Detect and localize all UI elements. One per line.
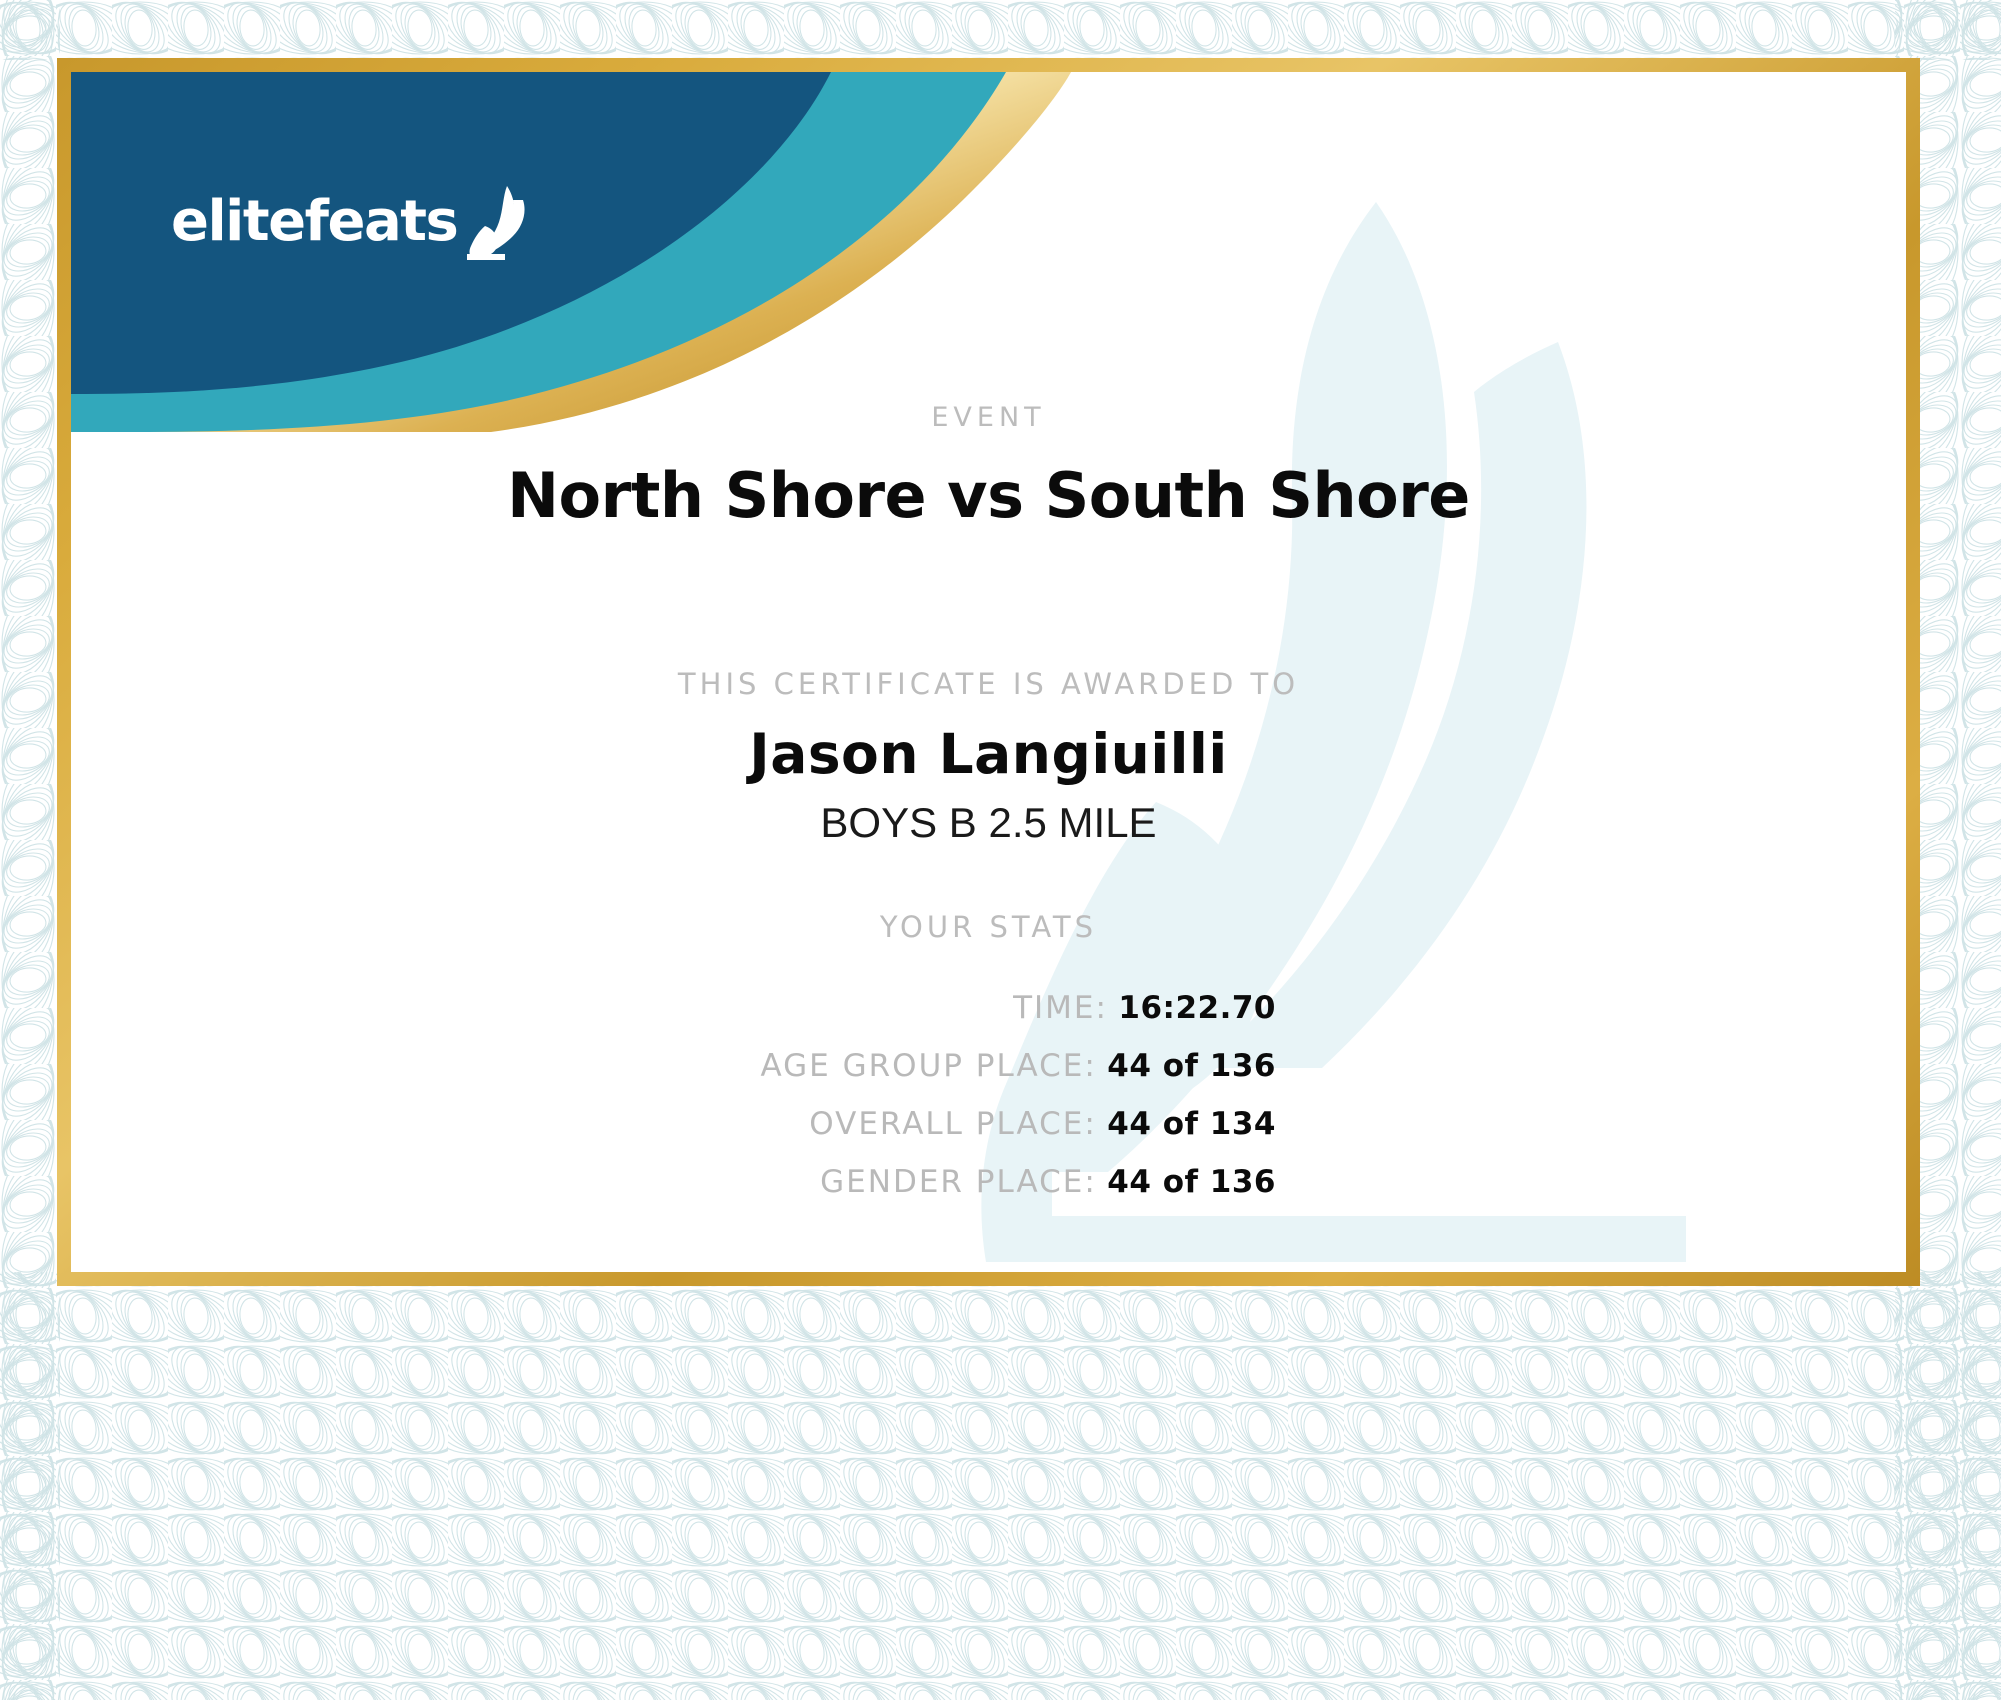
stat-row-time: TIME: 16:22.70 <box>71 990 1276 1026</box>
certificate-gold-frame: elitefeats EVENT North Shore vs South Sh… <box>57 58 1920 1286</box>
stat-label: TIME: <box>1013 990 1108 1026</box>
certificate-page: elitefeats EVENT North Shore vs South Sh… <box>0 0 2001 1700</box>
event-label: EVENT <box>71 402 1906 433</box>
stat-value: 44 of 136 <box>1107 1048 1276 1084</box>
recipient-division: BOYS B 2.5 MILE <box>71 799 1906 847</box>
brand-wordmark: elitefeats <box>171 194 457 250</box>
stats-list: TIME: 16:22.70 AGE GROUP PLACE: 44 of 13… <box>71 990 1276 1222</box>
stat-value: 44 of 134 <box>1107 1106 1276 1142</box>
certificate-paper: elitefeats EVENT North Shore vs South Sh… <box>71 72 1906 1272</box>
stats-label: YOUR STATS <box>71 910 1906 944</box>
stat-label: GENDER PLACE: <box>820 1164 1097 1200</box>
event-title: North Shore vs South Shore <box>71 459 1906 532</box>
stat-value: 16:22.70 <box>1118 990 1276 1026</box>
stat-row-overall-place: OVERALL PLACE: 44 of 134 <box>71 1106 1276 1142</box>
recipient-name: Jason Langiuilli <box>71 722 1906 786</box>
stat-value: 44 of 136 <box>1107 1164 1276 1200</box>
stat-row-age-group-place: AGE GROUP PLACE: 44 of 136 <box>71 1048 1276 1084</box>
stat-label: OVERALL PLACE: <box>809 1106 1097 1142</box>
stat-label: AGE GROUP PLACE: <box>760 1048 1096 1084</box>
winged-foot-icon <box>461 182 533 262</box>
awarded-to-label: THIS CERTIFICATE IS AWARDED TO <box>71 667 1906 701</box>
stat-row-gender-place: GENDER PLACE: 44 of 136 <box>71 1164 1276 1200</box>
brand-logo: elitefeats <box>171 182 533 262</box>
